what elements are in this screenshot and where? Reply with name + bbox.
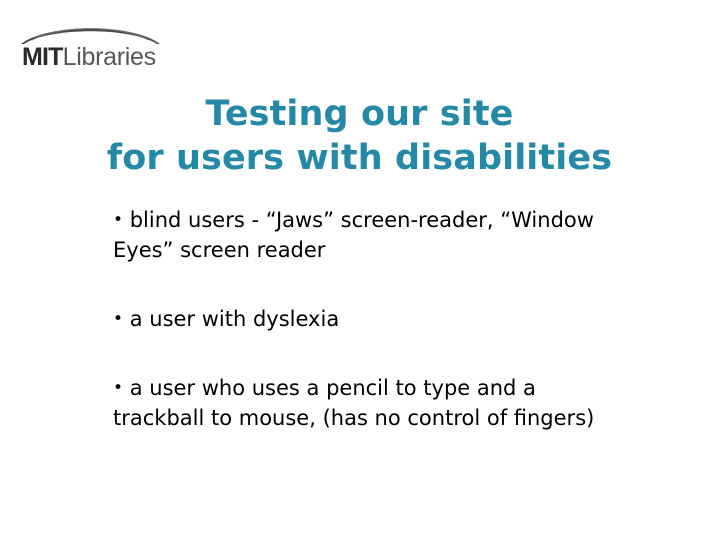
- list-item: • blind users - “Jaws” screen-reader, “W…: [113, 205, 625, 265]
- list-item: • a user with dyslexia: [113, 304, 625, 334]
- slide-title-line-2: for users with disabilities: [0, 136, 719, 180]
- list-item-text: a user who uses a pencil to type and a t…: [113, 376, 594, 430]
- slide-title-line-1: Testing our site: [0, 92, 719, 136]
- bullet-marker-icon: •: [113, 378, 123, 398]
- slide-title: Testing our site for users with disabili…: [0, 92, 719, 180]
- list-item-text: blind users - “Jaws” screen-reader, “Win…: [113, 208, 594, 262]
- bullet-marker-icon: •: [113, 309, 123, 329]
- list-item-text: a user with dyslexia: [130, 307, 339, 331]
- bullet-list: • blind users - “Jaws” screen-reader, “W…: [113, 205, 625, 433]
- bullet-marker-icon: •: [113, 210, 123, 230]
- list-item: • a user who uses a pencil to type and a…: [113, 373, 625, 433]
- slide-canvas: MITLibraries Testing our site for users …: [0, 0, 719, 539]
- logo-libraries-text: Libraries: [63, 43, 156, 71]
- logo-wordmark: MITLibraries: [22, 42, 156, 72]
- mit-libraries-logo: MITLibraries: [18, 22, 163, 74]
- logo-mit-text: MIT: [22, 43, 63, 71]
